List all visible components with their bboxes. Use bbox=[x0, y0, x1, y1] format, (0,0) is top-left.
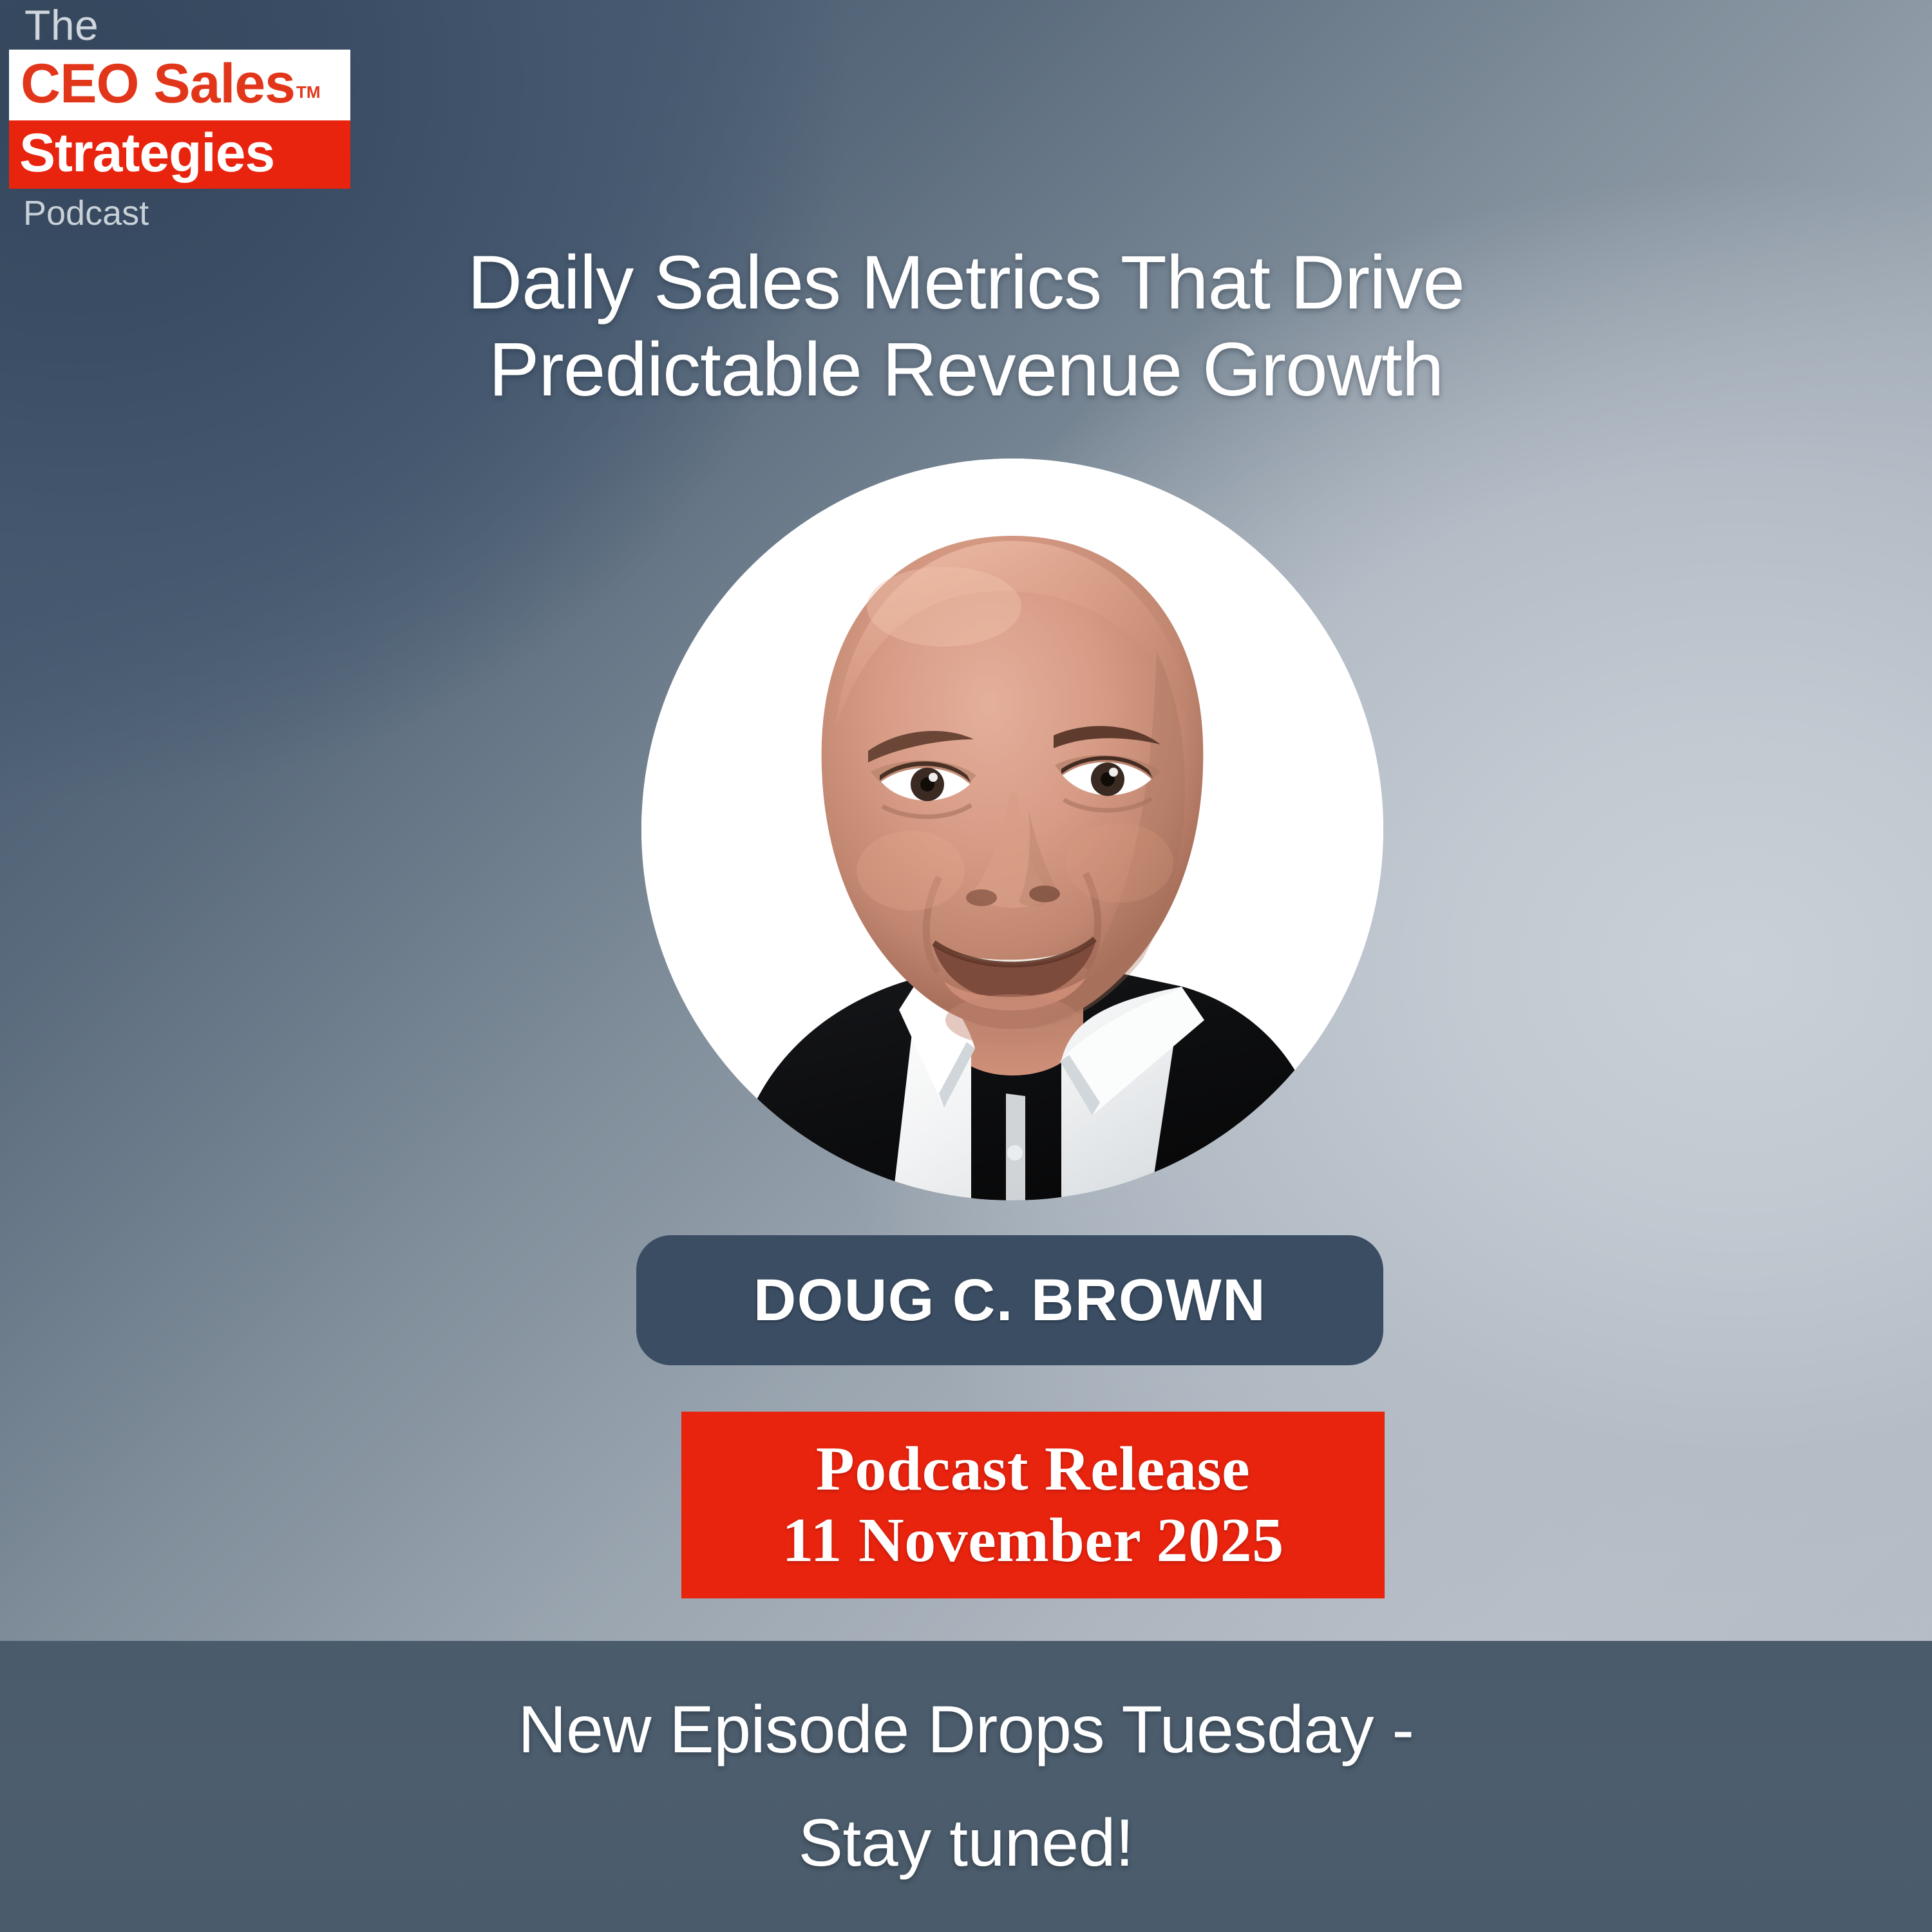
nostril-left bbox=[966, 889, 997, 906]
episode-title-line-2: Predictable Revenue Growth bbox=[193, 327, 1739, 413]
trademark-icon: TM bbox=[296, 82, 321, 102]
logo-name-primary-block: CEO SalesTM bbox=[9, 50, 350, 120]
podcast-promo-poster: The CEO SalesTM Strategies Podcast Daily… bbox=[0, 0, 1932, 1932]
footer-line-2: Stay tuned! bbox=[799, 1810, 1134, 1877]
nostril-right bbox=[1029, 885, 1060, 902]
footer-line-1: New Episode Drops Tuesday - bbox=[518, 1696, 1414, 1763]
release-banner: Podcast Release 11 November 2025 bbox=[681, 1412, 1385, 1598]
logo-ceo-sales-text: CEO Sales bbox=[21, 56, 295, 111]
episode-title-line-1: Daily Sales Metrics That Drive bbox=[193, 240, 1739, 327]
logo-name-secondary-block: Strategies bbox=[9, 120, 350, 189]
chin-shading bbox=[945, 994, 1079, 1046]
guest-name-badge: DOUG C. BROWN bbox=[636, 1235, 1383, 1365]
footer-band: New Episode Drops Tuesday - Stay tuned! bbox=[0, 1641, 1932, 1932]
eye-left-catchlight bbox=[929, 773, 938, 782]
podcast-logo: The CEO SalesTM Strategies Podcast bbox=[9, 5, 350, 234]
logo-strategies-text: Strategies bbox=[19, 126, 341, 180]
release-date: 11 November 2025 bbox=[782, 1505, 1283, 1577]
eye-right-catchlight bbox=[1109, 768, 1118, 777]
episode-title: Daily Sales Metrics That Drive Predictab… bbox=[193, 240, 1739, 413]
guest-portrait-avatar bbox=[641, 459, 1383, 1200]
logo-the-text: The bbox=[9, 5, 350, 46]
logo-podcast-text: Podcast bbox=[9, 189, 350, 234]
guest-name-text: DOUG C. BROWN bbox=[753, 1267, 1266, 1334]
shirt-button bbox=[1007, 1145, 1023, 1160]
release-label: Podcast Release bbox=[816, 1434, 1250, 1505]
guest-portrait-illustration bbox=[641, 459, 1383, 1200]
